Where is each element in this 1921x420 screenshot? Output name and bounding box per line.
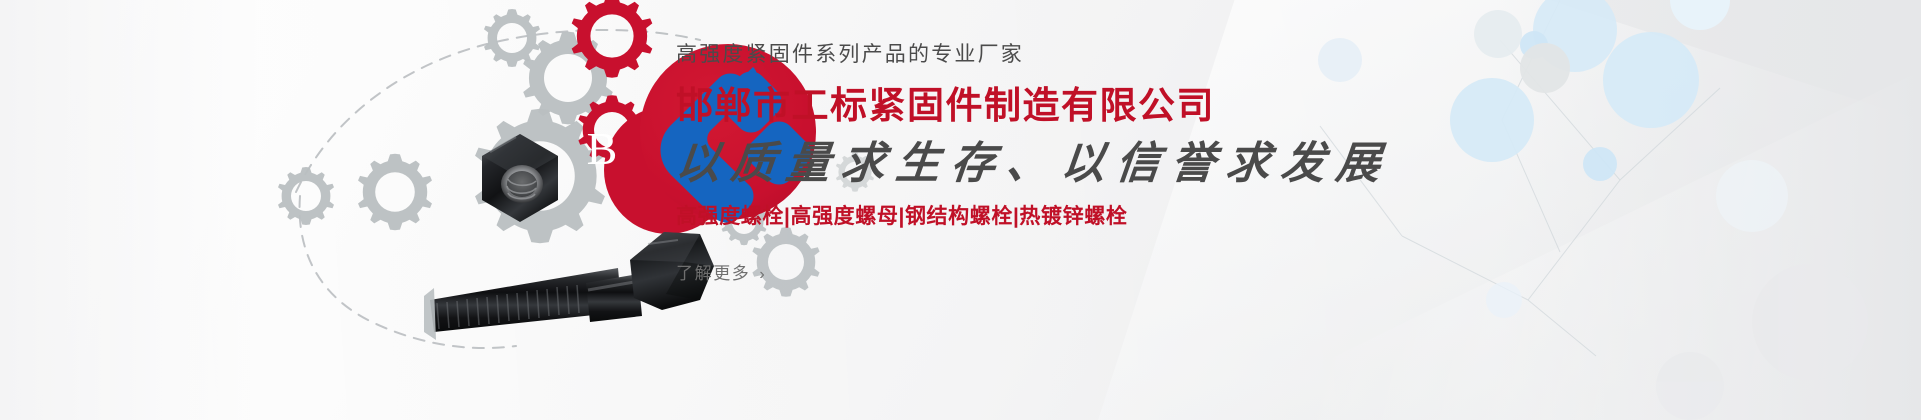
bubble	[1520, 43, 1570, 93]
logo-letter-b: B	[508, 54, 690, 236]
learn-more-link[interactable]: 了解更多›	[676, 265, 766, 283]
bubble	[1752, 264, 1868, 380]
bubble-faint-group	[1656, 264, 1868, 420]
banner-text-block: 高强度紧固件系列产品的专业厂家 邯郸市工标紧固件制造有限公司 以质量求生存、以信…	[676, 44, 1496, 284]
hex-bolt-icon	[424, 232, 714, 340]
bubble	[1670, 0, 1730, 30]
product-keywords: 高强度螺栓|高强度螺母|钢结构螺栓|热镀锌螺栓	[676, 206, 1496, 227]
bubble	[1583, 147, 1617, 181]
background-edge-fade-left	[0, 0, 260, 420]
banner-tagline: 高强度紧固件系列产品的专业厂家	[676, 44, 1496, 65]
background-edge-fade-right	[1501, 0, 1921, 420]
bubble	[1486, 282, 1522, 318]
gear-gray-icon	[278, 167, 334, 225]
bubble	[1603, 32, 1699, 128]
bubble	[1520, 31, 1548, 59]
chevron-right-icon: ›	[759, 266, 766, 283]
banner-slogan: 以质量求生存、以信誉求发展	[673, 140, 1498, 188]
company-logo[interactable]: B	[508, 54, 690, 236]
company-name: 邯郸市工标紧固件制造有限公司	[676, 87, 1496, 126]
learn-more-label: 了解更多	[676, 264, 750, 283]
gear-gray-icon	[358, 154, 432, 231]
bubble	[1533, 0, 1617, 72]
bubble	[1716, 160, 1788, 232]
hero-banner: B 高强度紧固件系列产品的专业厂家 邯郸市工标紧固件制造有限公司 以质量求生存、…	[0, 0, 1921, 420]
bubble	[1656, 352, 1724, 420]
